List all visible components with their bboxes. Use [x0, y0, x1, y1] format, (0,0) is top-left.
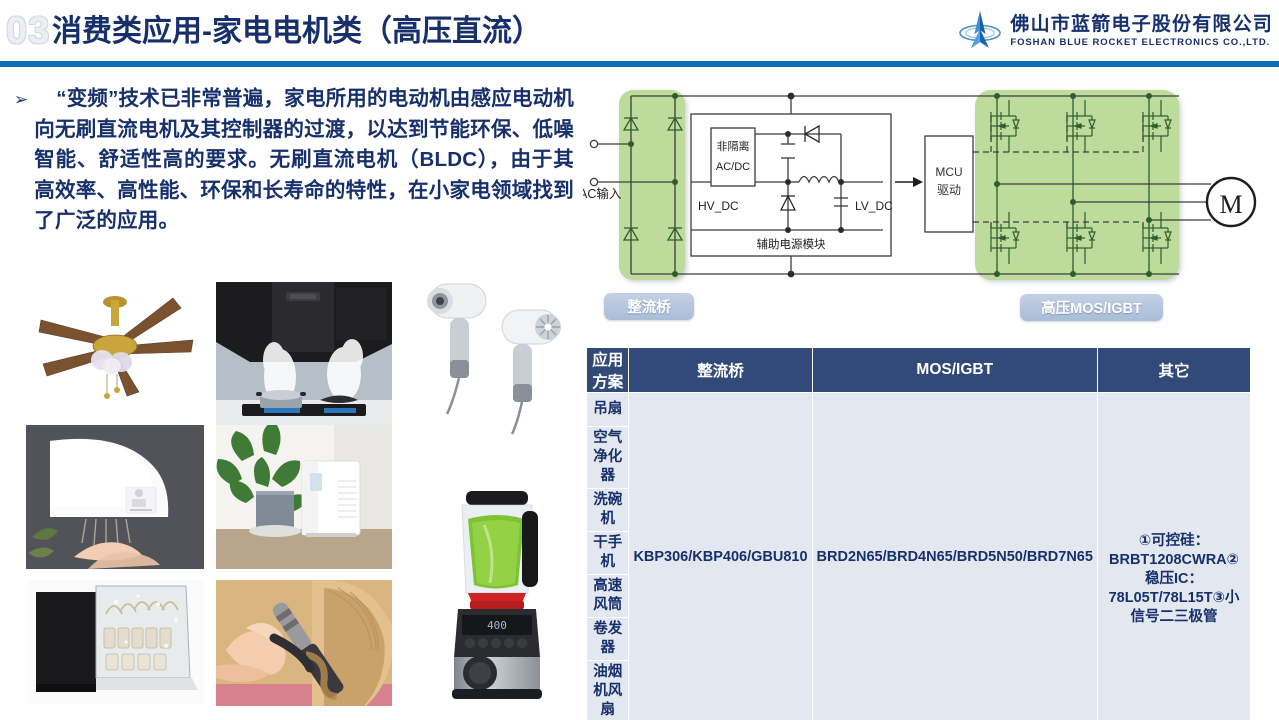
cell-app-5: 卷发器 — [587, 618, 629, 661]
body-paragraph: “变频”技术已非常普遍，家电所用的电动机由感应电动机向无刷直流电机及其控制器的过… — [34, 84, 574, 237]
circuit-diagram: AC输入 辅助电源模块 HV_DC LV_DC 非隔离 AC/DC — [583, 82, 1273, 327]
rocket-arrow-logo-icon — [957, 8, 1003, 54]
page-title: 消费类应用-家电电机类（高压直流） — [52, 13, 542, 51]
rectifier-bridge-label: 整流桥 — [604, 293, 694, 320]
cell-other-group: ①可控硅：BRBT1208CWRA②稳压IC：78L05T/78L15T③小信号… — [1097, 393, 1250, 720]
th-other: 其它 — [1097, 348, 1250, 393]
cell-app-4: 高速风筒 — [587, 575, 629, 618]
logo-company-cn: 佛山市蓝箭电子股份有限公司 — [1010, 14, 1273, 36]
header-divider — [0, 61, 1279, 67]
slide-root: 03 消费类应用-家电电机类（高压直流） 佛山市蓝箭电子股份有限公司 FOSHA… — [0, 0, 1279, 720]
mcu-line1: MCU — [935, 165, 962, 179]
mcu-line2: 驱动 — [937, 183, 961, 197]
photo-hand-dryer — [26, 425, 204, 569]
cell-app-3: 干手机 — [587, 532, 629, 575]
aux-module-label: 辅助电源模块 — [757, 237, 826, 251]
hv-dc-label: HV_DC — [698, 199, 739, 213]
table-header-row: 应用方案 整流桥 MOS/IGBT 其它 — [587, 348, 1251, 393]
company-logo: 佛山市蓝箭电子股份有限公司 FOSHAN BLUE ROCKET ELECTRO… — [957, 8, 1273, 54]
acdc-line1: 非隔离 — [717, 139, 750, 153]
photo-hair-dryers — [406, 276, 578, 436]
cell-mos-group: BRD2N65/BRD4N65/BRD5N50/BRD7N65 — [812, 393, 1097, 720]
photo-dishwasher — [26, 580, 204, 704]
motor-symbol: M — [1219, 190, 1242, 219]
photo-ceiling-fan — [26, 278, 204, 414]
photo-curling-iron — [216, 580, 392, 706]
acdc-line2: AC/DC — [716, 161, 750, 173]
mos-igbt-label: 高压MOS/IGBT — [1020, 294, 1163, 321]
photo-air-purifier — [216, 425, 392, 569]
lv-dc-label: LV_DC — [855, 199, 893, 213]
cell-bridge-group: KBP306/KBP406/GBU810 — [629, 393, 812, 720]
cell-app-6: 油烟机风扇 — [587, 661, 629, 720]
table-row: 吊扇 KBP306/KBP406/GBU810 BRD2N65/BRD4N65/… — [587, 393, 1251, 427]
section-number: 03 — [6, 11, 50, 51]
bullet-arrow-icon: ➢ — [14, 84, 28, 237]
photo-blender: 400 — [418, 481, 568, 705]
cell-app-2: 洗碗机 — [587, 489, 629, 532]
appliance-photo-grid: 400 — [26, 276, 582, 710]
th-bridge: 整流桥 — [629, 348, 812, 393]
th-application: 应用方案 — [587, 348, 629, 393]
photo-range-hood — [216, 282, 392, 428]
cell-app-1: 空气净化器 — [587, 427, 629, 489]
cell-app-0: 吊扇 — [587, 393, 629, 427]
svg-text:400: 400 — [487, 619, 507, 632]
ac-input-label: AC输入 — [583, 186, 622, 201]
bullet-paragraph-block: ➢ “变频”技术已非常普遍，家电所用的电动机由感应电动机向无刷直流电机及其控制器… — [14, 84, 574, 237]
th-mos: MOS/IGBT — [812, 348, 1097, 393]
logo-company-en: FOSHAN BLUE ROCKET ELECTRONICS CO.,LTD. — [1010, 36, 1273, 49]
application-table: 应用方案 整流桥 MOS/IGBT 其它 吊扇 KBP306/KBP406/GB… — [586, 347, 1251, 720]
